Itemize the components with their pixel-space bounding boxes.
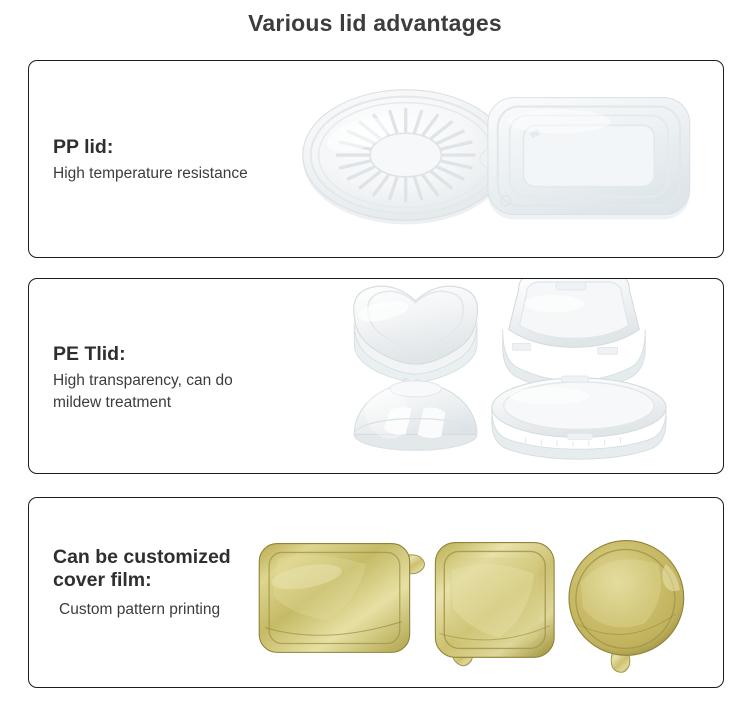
pp-lid-description: High temperature resistance [53, 163, 318, 185]
pe-lid-description: High transparency, can do mildew treatme… [53, 370, 318, 415]
cover-film-description: Custom pattern printing [53, 599, 318, 621]
cover-film-text-block: Can be customized cover film: Custom pat… [53, 546, 318, 621]
pe-lid-text-block: PE Tlid: High transparency, can do milde… [53, 343, 318, 415]
card-pe-lid: PE Tlid: High transparency, can do milde… [28, 278, 724, 474]
dome-pe-lid-shape [354, 381, 477, 450]
card-pp-lid: PP lid: High temperature resistance [28, 60, 724, 258]
gold-round-foil-lid-shape [569, 541, 684, 673]
pe-lid-heading: PE Tlid: [53, 343, 318, 366]
cover-film-heading: Can be customized cover film: [53, 546, 318, 592]
round-pp-lid-shape [303, 90, 522, 225]
page-title: Various lid advantages [0, 10, 750, 37]
oval-flat-pe-lid-shape [492, 376, 666, 459]
gold-square-foil-lid-shape [435, 543, 554, 666]
pp-lid-heading: PP lid: [53, 136, 318, 159]
rectangular-pp-lid-shape [480, 98, 690, 220]
square-pe-lid-shape [503, 279, 646, 391]
pp-lid-text-block: PP lid: High temperature resistance [53, 136, 318, 185]
heart-shaped-pe-lid-shape [354, 286, 478, 386]
card-cover-film: Can be customized cover film: Custom pat… [28, 497, 724, 688]
page-root: Various lid advantages [0, 0, 750, 713]
